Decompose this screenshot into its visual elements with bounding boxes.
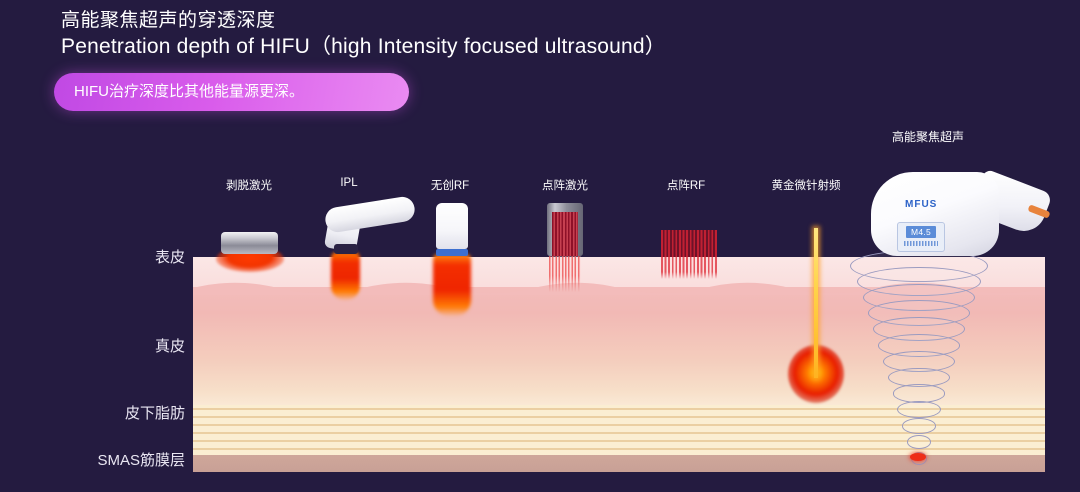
device-label-gold-microneedle: 黄金微针射频 — [772, 177, 841, 193]
layer-label-dermis: 真皮 — [90, 335, 185, 356]
hifu-cone-ring — [907, 435, 932, 449]
hifu-cone-ring — [897, 401, 940, 418]
highlight-badge: HIFU治疗深度比其他能量源更深。 — [54, 73, 409, 111]
hifu-cone-ring — [902, 418, 936, 434]
ipl-handpiece-tip — [334, 244, 358, 254]
fractional-laser-beam — [549, 256, 581, 292]
fractional-laser-emitter-array — [552, 212, 578, 256]
layer-label-smas: SMAS筋膜层 — [60, 449, 185, 470]
non-invasive-rf-tip-band — [436, 249, 468, 256]
hifu-focal-point — [910, 453, 926, 461]
device-label-hifu: 高能聚焦超声 — [892, 128, 964, 145]
fractional-rf-emitter-array — [661, 230, 717, 257]
hifu-screen-bars — [904, 241, 938, 246]
page-title-en: Penetration depth of HIFU（high Intensity… — [61, 30, 666, 60]
device-label-ablative-laser: 剥脱激光 — [226, 177, 272, 193]
device-label-non-invasive-rf: 无创RF — [431, 177, 469, 193]
gold-microneedle-shaft — [814, 228, 818, 378]
hifu-screen[interactable]: M4.5 — [897, 222, 945, 252]
device-label-fractional-laser: 点阵激光 — [542, 177, 588, 193]
ipl-beam — [331, 252, 360, 300]
device-label-fractional-rf: 点阵RF — [667, 177, 705, 193]
layer-label-subcutaneous-fat: 皮下脂肪 — [80, 402, 185, 423]
fractional-rf-beam — [661, 257, 717, 279]
hifu-cone-ring — [893, 384, 946, 402]
hifu-screen-value: M4.5 — [906, 226, 936, 238]
non-invasive-rf-beam — [433, 254, 471, 316]
layer-label-epidermis: 表皮 — [90, 246, 185, 267]
infographic-root: 高能聚焦超声的穿透深度 Penetration depth of HIFU（hi… — [0, 0, 1080, 492]
page-title-zh: 高能聚焦超声的穿透深度 — [61, 5, 276, 32]
ablative-laser-handpiece — [221, 232, 278, 254]
non-invasive-rf-handpiece — [436, 203, 468, 249]
device-label-ipl: IPL — [340, 177, 357, 189]
hifu-focus-cone — [845, 248, 1005, 472]
ipl-handpiece-head — [324, 195, 417, 234]
highlight-badge-label: HIFU治疗深度比其他能量源更深。 — [74, 73, 304, 111]
hifu-brand-label: MFUS — [905, 199, 937, 210]
